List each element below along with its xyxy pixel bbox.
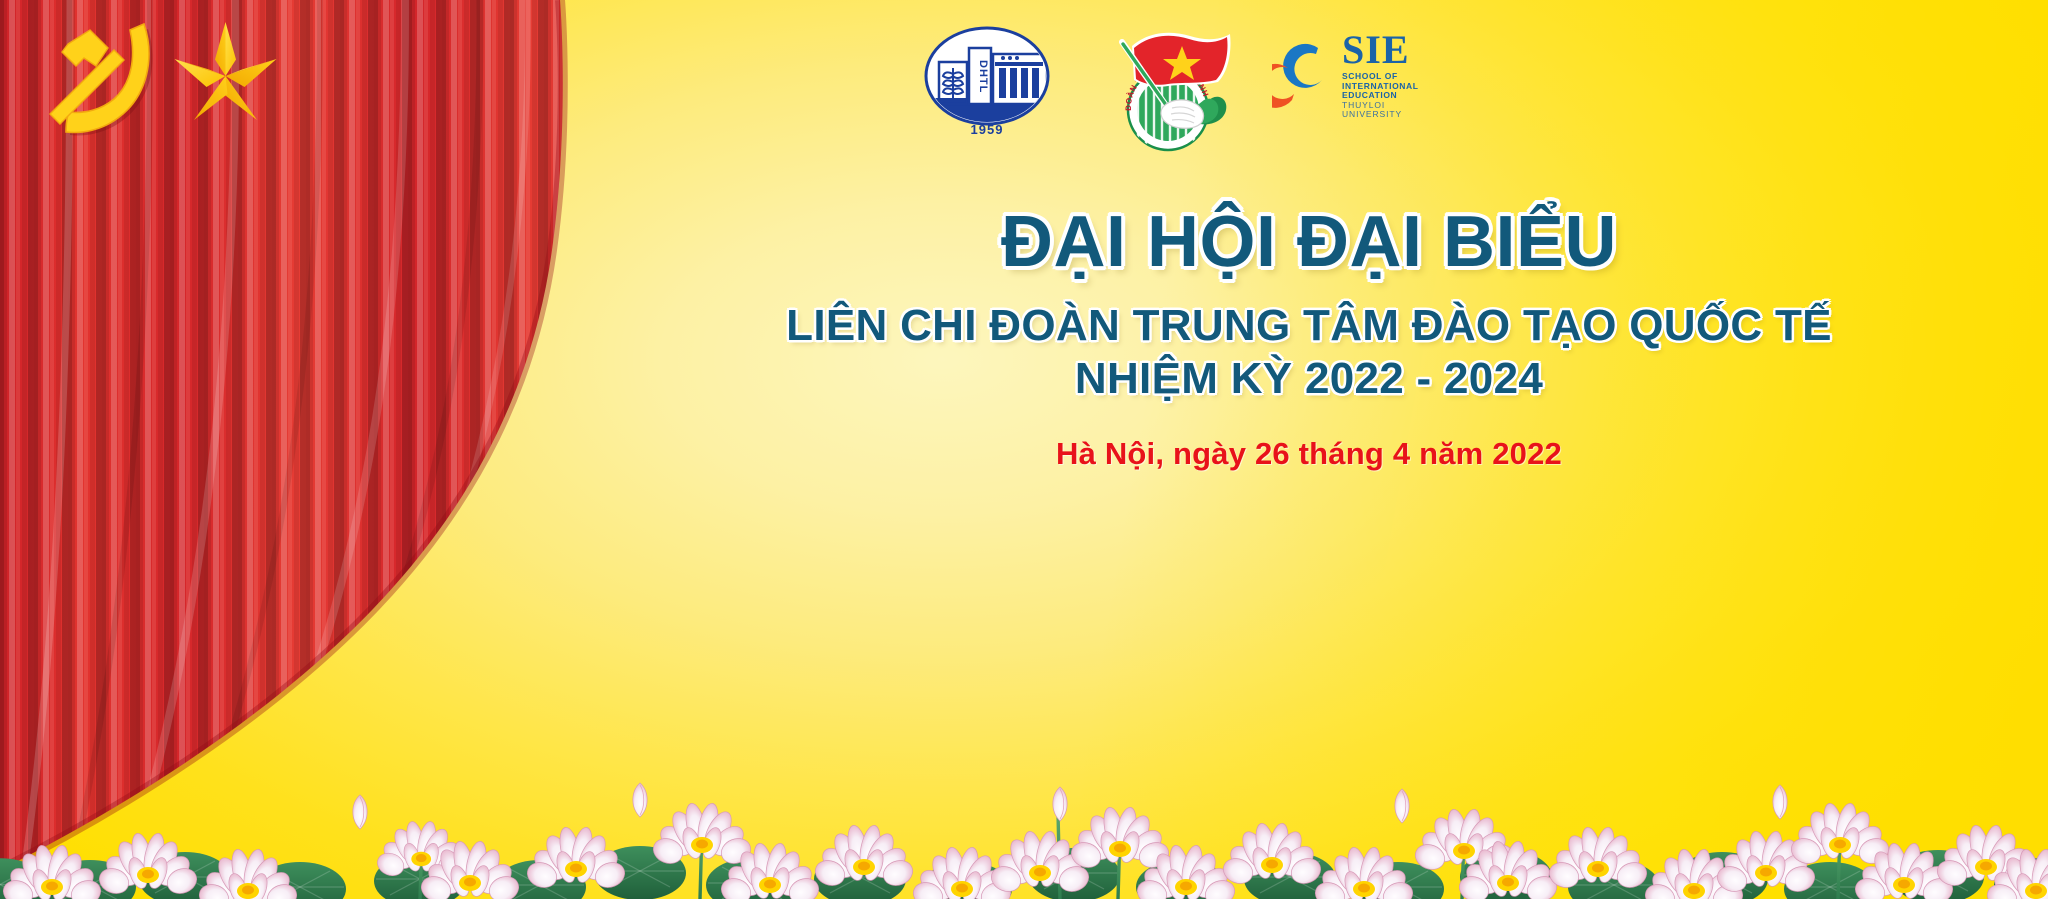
banner-date: Hà Nội, ngày 26 tháng 4 năm 2022 <box>600 436 2018 472</box>
hammer-and-sickle-icon <box>38 18 173 143</box>
congress-banner: DHTL 1959 <box>0 0 2048 899</box>
svg-text:1959: 1959 <box>971 122 1004 137</box>
lotus-flower-band <box>0 769 2048 899</box>
dhtl-logo: DHTL 1959 <box>915 24 1060 139</box>
sie-line-2: INTERNATIONAL EDUCATION <box>1342 82 1442 99</box>
sie-logo: SIE SCHOOL OF INTERNATIONAL EDUCATION TH… <box>1272 24 1442 124</box>
sie-text-block: SIE SCHOOL OF INTERNATIONAL EDUCATION TH… <box>1342 30 1442 119</box>
sie-acronym: SIE <box>1342 30 1442 70</box>
banner-title: ĐẠI HỘI ĐẠI BIỂU <box>600 205 2018 281</box>
logo-row: DHTL 1959 <box>915 24 1442 152</box>
gold-star-icon <box>168 20 283 132</box>
doan-tncs-ho-chi-minh-emblem: ĐOÀN TNCS HỒ CHÍ MINH <box>1086 24 1246 152</box>
banner-subtitle-line-1: LIÊN CHI ĐOÀN TRUNG TÂM ĐÀO TẠO QUỐC TẾ <box>600 299 2018 353</box>
headline-block: ĐẠI HỘI ĐẠI BIỂU LIÊN CHI ĐOÀN TRUNG TÂM… <box>600 205 2018 472</box>
svg-text:DHTL: DHTL <box>977 60 989 93</box>
sie-line-1: SCHOOL OF <box>1342 72 1442 81</box>
sie-swirl-icon <box>1272 38 1338 110</box>
banner-subtitle-line-2: NHIỆM KỲ 2022 - 2024 <box>600 352 2018 406</box>
sie-line-3: THUYLOI UNIVERSITY <box>1342 101 1442 118</box>
